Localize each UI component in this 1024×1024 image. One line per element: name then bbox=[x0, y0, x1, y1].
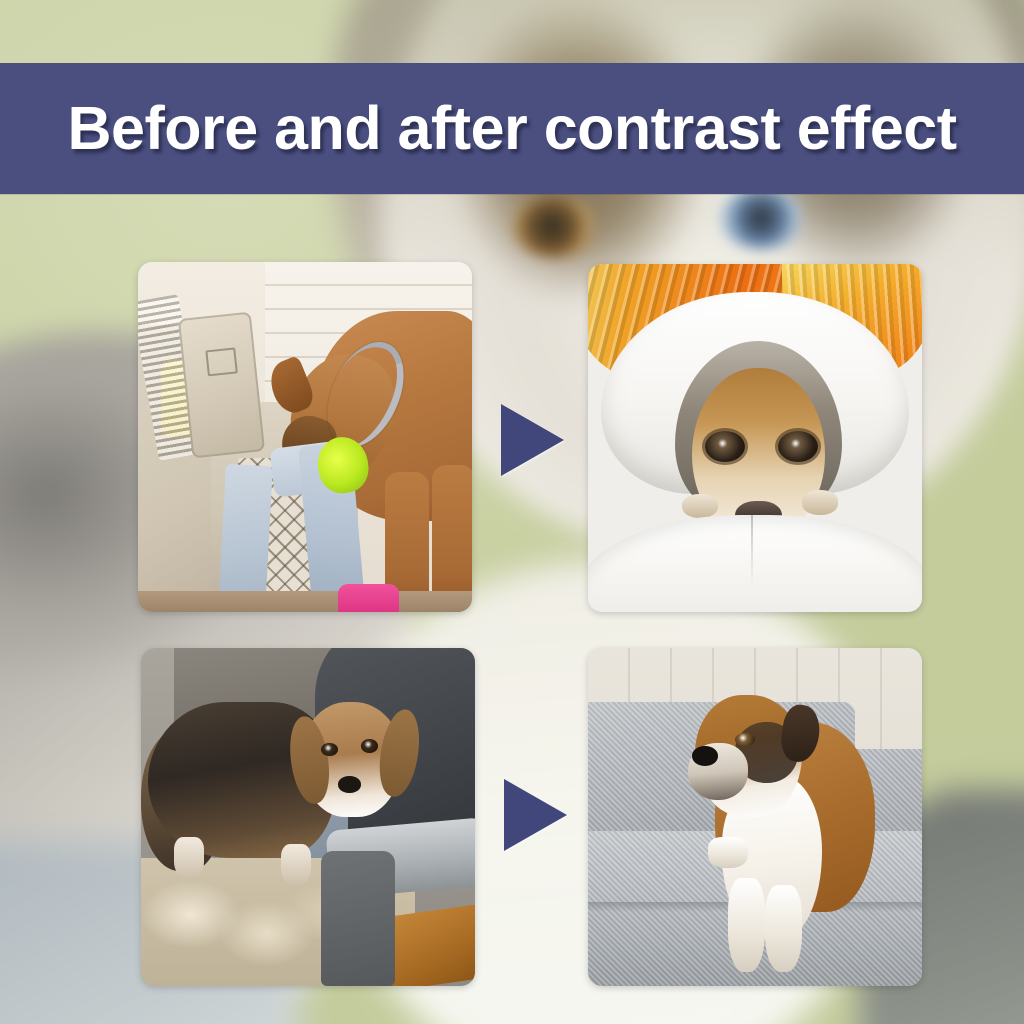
beagle-paw-front bbox=[281, 844, 311, 885]
photo-card-before-laundry[interactable] bbox=[138, 262, 472, 612]
photo-card-after-duvet[interactable] bbox=[588, 264, 922, 612]
terrier-paw-right bbox=[802, 490, 839, 514]
dog-leg-rear bbox=[432, 465, 472, 612]
poster-canvas: Before and after contrast effect bbox=[0, 0, 1024, 1024]
boxer-paw-front-left bbox=[728, 878, 765, 973]
terrier-paw-left bbox=[682, 494, 719, 518]
couch-armrest-side bbox=[321, 851, 394, 986]
scene-laundry-dog bbox=[138, 262, 472, 612]
photo-card-after-calm-sofa[interactable] bbox=[588, 648, 922, 986]
scene-beagle-destruction bbox=[141, 648, 475, 986]
comparison-grid bbox=[0, 0, 1024, 1024]
beagle-eye-left bbox=[321, 743, 338, 757]
arrow-right-icon-row-1 bbox=[501, 404, 564, 476]
boxer-paw-tucked bbox=[708, 837, 748, 867]
scene-boxer-on-sofa bbox=[588, 648, 922, 986]
boxer-eye bbox=[735, 733, 755, 747]
scene-dog-under-duvet bbox=[588, 264, 922, 612]
terrier-eye-left bbox=[705, 431, 745, 462]
floor-strip bbox=[138, 591, 472, 612]
arrow-right-icon-row-2 bbox=[504, 779, 567, 851]
basket-lid bbox=[178, 311, 266, 458]
pink-item-on-floor bbox=[338, 584, 398, 612]
beagle-eye-right bbox=[361, 739, 378, 753]
beagle-paw-rear bbox=[174, 837, 204, 878]
boxer-paw-front-right bbox=[765, 885, 802, 973]
grey-cloth-left bbox=[218, 464, 272, 612]
photo-card-before-shredded-couch[interactable] bbox=[141, 648, 475, 986]
